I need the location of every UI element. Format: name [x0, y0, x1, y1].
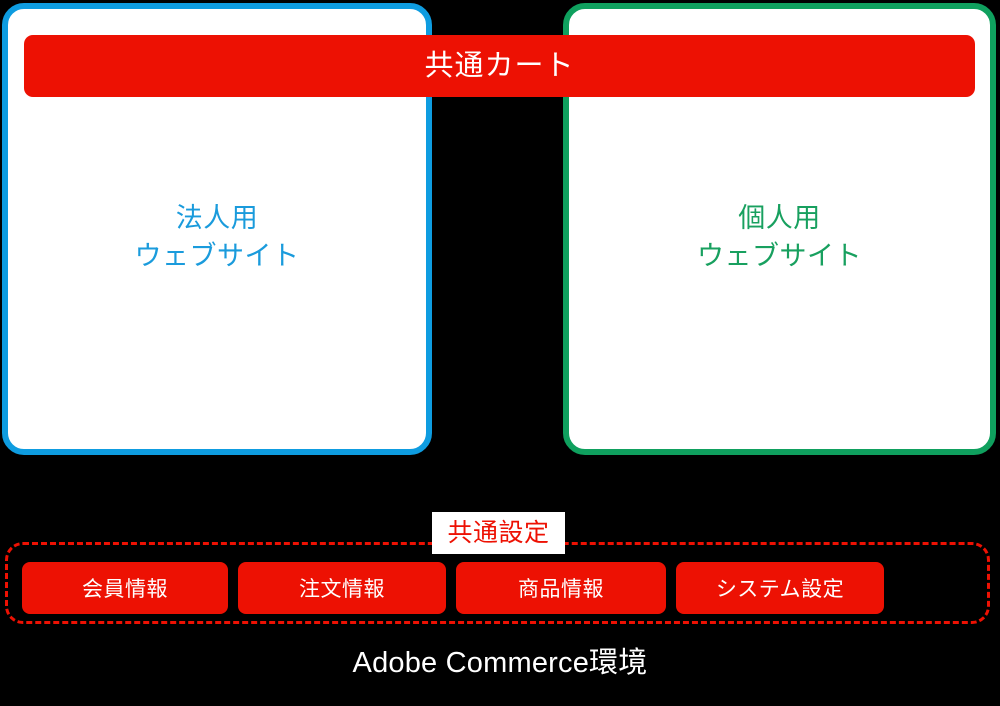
- common-settings-items: 会員情報 注文情報 商品情報 システム設定: [22, 562, 884, 614]
- setting-chip-product-info: 商品情報: [456, 562, 666, 614]
- setting-chip-label: システム設定: [716, 573, 844, 603]
- setting-chip-label: 会員情報: [82, 573, 168, 603]
- diagram-canvas: 法人用 ウェブサイト 個人用 ウェブサイト 共通カート 共通設定 会員情報 注文…: [0, 0, 1000, 706]
- setting-chip-label: 商品情報: [518, 573, 604, 603]
- shared-cart-label: 共通カート: [424, 52, 574, 81]
- shared-cart-bar: 共通カート: [24, 35, 975, 97]
- setting-chip-label: 注文情報: [299, 573, 385, 603]
- common-settings-legend: 共通設定: [432, 512, 565, 554]
- setting-chip-order-info: 注文情報: [238, 562, 446, 614]
- setting-chip-member-info: 会員情報: [22, 562, 228, 614]
- environment-caption: Adobe Commerce環境: [0, 646, 1000, 681]
- setting-chip-system-settings: システム設定: [676, 562, 884, 614]
- panel-individual-website-label: 個人用 ウェブサイト: [569, 199, 990, 275]
- panel-business-website-label: 法人用 ウェブサイト: [8, 199, 426, 275]
- common-settings-legend-label: 共通設定: [447, 521, 549, 546]
